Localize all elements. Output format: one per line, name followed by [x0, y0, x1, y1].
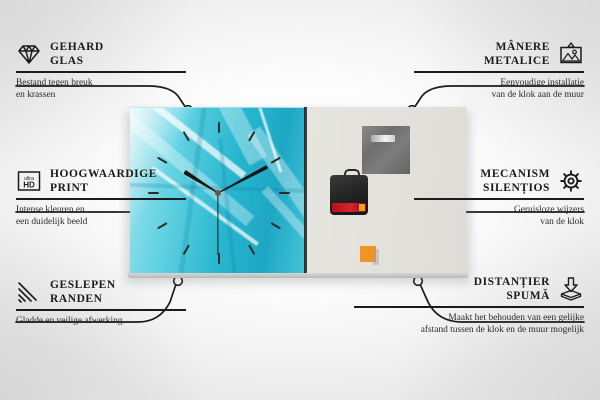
callout-rule [414, 71, 584, 73]
hour-tick [270, 157, 281, 164]
callout-desc-line2: een duidelijk beeld [16, 216, 186, 228]
arrow-onto-pad-icon [558, 276, 584, 302]
callout-desc-line1: Eenvoudige installatie [414, 77, 584, 89]
clock-hour-hand [183, 170, 219, 195]
callout-head: ultra HD HOOGWAARDIGE PRINT [16, 167, 186, 195]
bevel-lines-icon [16, 279, 42, 305]
callout-desc-line1: Geruisloze wijzers [414, 204, 584, 216]
callout-rule [16, 198, 186, 200]
callout-geslepen-randen[interactable]: GESLEPEN RANDEN Gladde en veilige afwerk… [16, 278, 186, 327]
callout-desc-line1: Bestand tegen breuk [16, 77, 186, 89]
hanger-plate [362, 126, 410, 174]
callout-rule [354, 306, 584, 308]
callout-distantier-spuma[interactable]: DISTANȚIER SPUMĂ Maakt het behouden van … [354, 275, 584, 336]
callout-desc-line2: en krassen [16, 89, 186, 101]
callout-title: GEHARD GLAS [50, 40, 104, 68]
callout-manere-metalice[interactable]: MÂNERE METALICE Eenvoudige installatie v… [414, 40, 584, 101]
clock-center-hub [215, 190, 221, 196]
callout-head: GESLEPEN RANDEN [16, 278, 186, 306]
gear-icon [558, 168, 584, 194]
callout-desc-line2: van de klok aan de muur [414, 89, 584, 101]
callout-head: MECANISM SILENȚIOS [414, 167, 584, 195]
callout-gehard-glas[interactable]: GEHARD GLAS Bestand tegen breuk en krass… [16, 40, 186, 101]
callout-desc-line2: afstand tussen de klok en de muur mogeli… [354, 324, 584, 336]
callout-rule [16, 309, 186, 311]
foam-spacer [360, 246, 376, 262]
callout-mecanism-silentios[interactable]: MECANISM SILENȚIOS Geruisloze wijzers va… [414, 167, 584, 228]
hour-tick [270, 222, 281, 229]
clock-minute-hand [217, 165, 268, 195]
callout-desc-line1: Maakt het behouden van een gelijke [354, 312, 584, 324]
callout-title: HOOGWAARDIGE PRINT [50, 167, 157, 195]
hour-tick [279, 192, 290, 194]
hour-tick [248, 131, 255, 142]
diamond-icon [16, 41, 42, 67]
hour-tick [183, 131, 190, 142]
callout-title: DISTANȚIER SPUMĂ [474, 275, 550, 303]
hour-tick [248, 244, 255, 255]
callout-rule [16, 71, 186, 73]
callout-title: GESLEPEN RANDEN [50, 278, 116, 306]
callout-desc-line1: Intense kleuren en [16, 204, 186, 216]
callout-title: MECANISM SILENȚIOS [480, 167, 550, 195]
callout-head: MÂNERE METALICE [414, 40, 584, 68]
picture-frame-icon [558, 41, 584, 67]
svg-text:HD: HD [23, 181, 35, 190]
clock-second-hand [217, 193, 218, 255]
ultra-hd-icon: ultra HD [16, 168, 42, 194]
callout-head: GEHARD GLAS [16, 40, 186, 68]
callout-head: DISTANȚIER SPUMĂ [354, 275, 584, 303]
hour-tick [183, 244, 190, 255]
hour-tick [218, 122, 220, 133]
hour-tick [157, 157, 168, 164]
callout-desc-line1: Gladde en veilige afwerking [16, 315, 186, 327]
battery [332, 203, 366, 212]
callout-desc-line2: van de klok [414, 216, 584, 228]
callout-rule [414, 198, 584, 200]
callout-hoogwaardige-print[interactable]: ultra HD HOOGWAARDIGE PRINT Intense kleu… [16, 167, 186, 228]
callout-title: MÂNERE METALICE [484, 40, 550, 68]
infographic-canvas: GEHARD GLAS Bestand tegen breuk en krass… [0, 0, 600, 400]
